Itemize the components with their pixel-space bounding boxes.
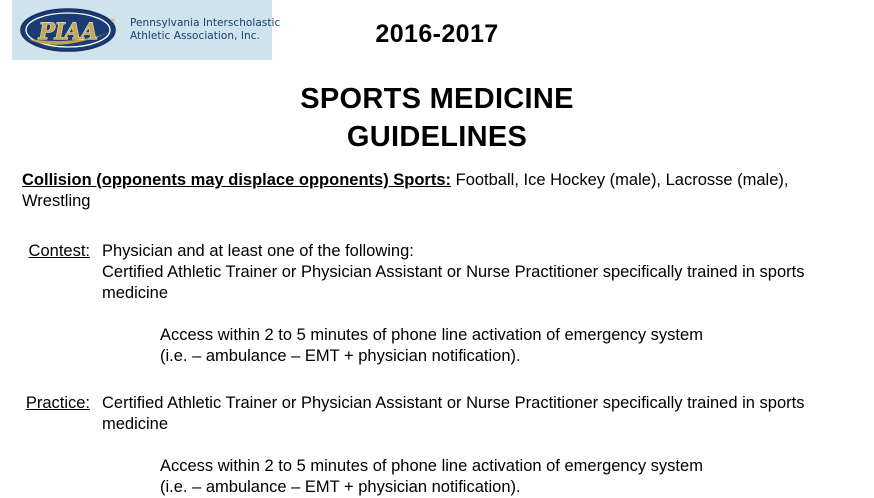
contest-requirement-line2: Certified Athletic Trainer or Physician …: [102, 262, 852, 304]
contest-label: Contest:: [22, 241, 102, 262]
practice-requirements: Certified Athletic Trainer or Physician …: [102, 393, 852, 435]
practice-section: Practice: Certified Athletic Trainer or …: [22, 393, 852, 435]
contest-access-paragraph: Access within 2 to 5 minutes of phone li…: [160, 325, 852, 367]
guidelines-body: Collision (opponents may displace oppone…: [22, 170, 852, 498]
practice-requirement-line1: Certified Athletic Trainer or Physician …: [102, 393, 852, 435]
page-title-line2: GUIDELINES: [0, 118, 874, 156]
practice-access-line2: (i.e. – ambulance – EMT + physician noti…: [160, 477, 852, 498]
contest-access-line2: (i.e. – ambulance – EMT + physician noti…: [160, 346, 852, 367]
contest-requirements: Physician and at least one of the follow…: [102, 241, 852, 304]
practice-access-line1: Access within 2 to 5 minutes of phone li…: [160, 456, 852, 477]
document-year: 2016-2017: [0, 20, 874, 49]
practice-access-paragraph: Access within 2 to 5 minutes of phone li…: [160, 456, 852, 498]
page-title-line1: SPORTS MEDICINE: [0, 80, 874, 118]
contest-access-line1: Access within 2 to 5 minutes of phone li…: [160, 325, 852, 346]
contest-requirement-line1: Physician and at least one of the follow…: [102, 241, 852, 262]
practice-label: Practice:: [22, 393, 102, 414]
collision-sports-heading: Collision (opponents may displace oppone…: [22, 171, 451, 189]
collision-sports-paragraph: Collision (opponents may displace oppone…: [22, 170, 852, 212]
page-title: SPORTS MEDICINE GUIDELINES: [0, 80, 874, 156]
contest-section: Contest: Physician and at least one of t…: [22, 241, 852, 304]
